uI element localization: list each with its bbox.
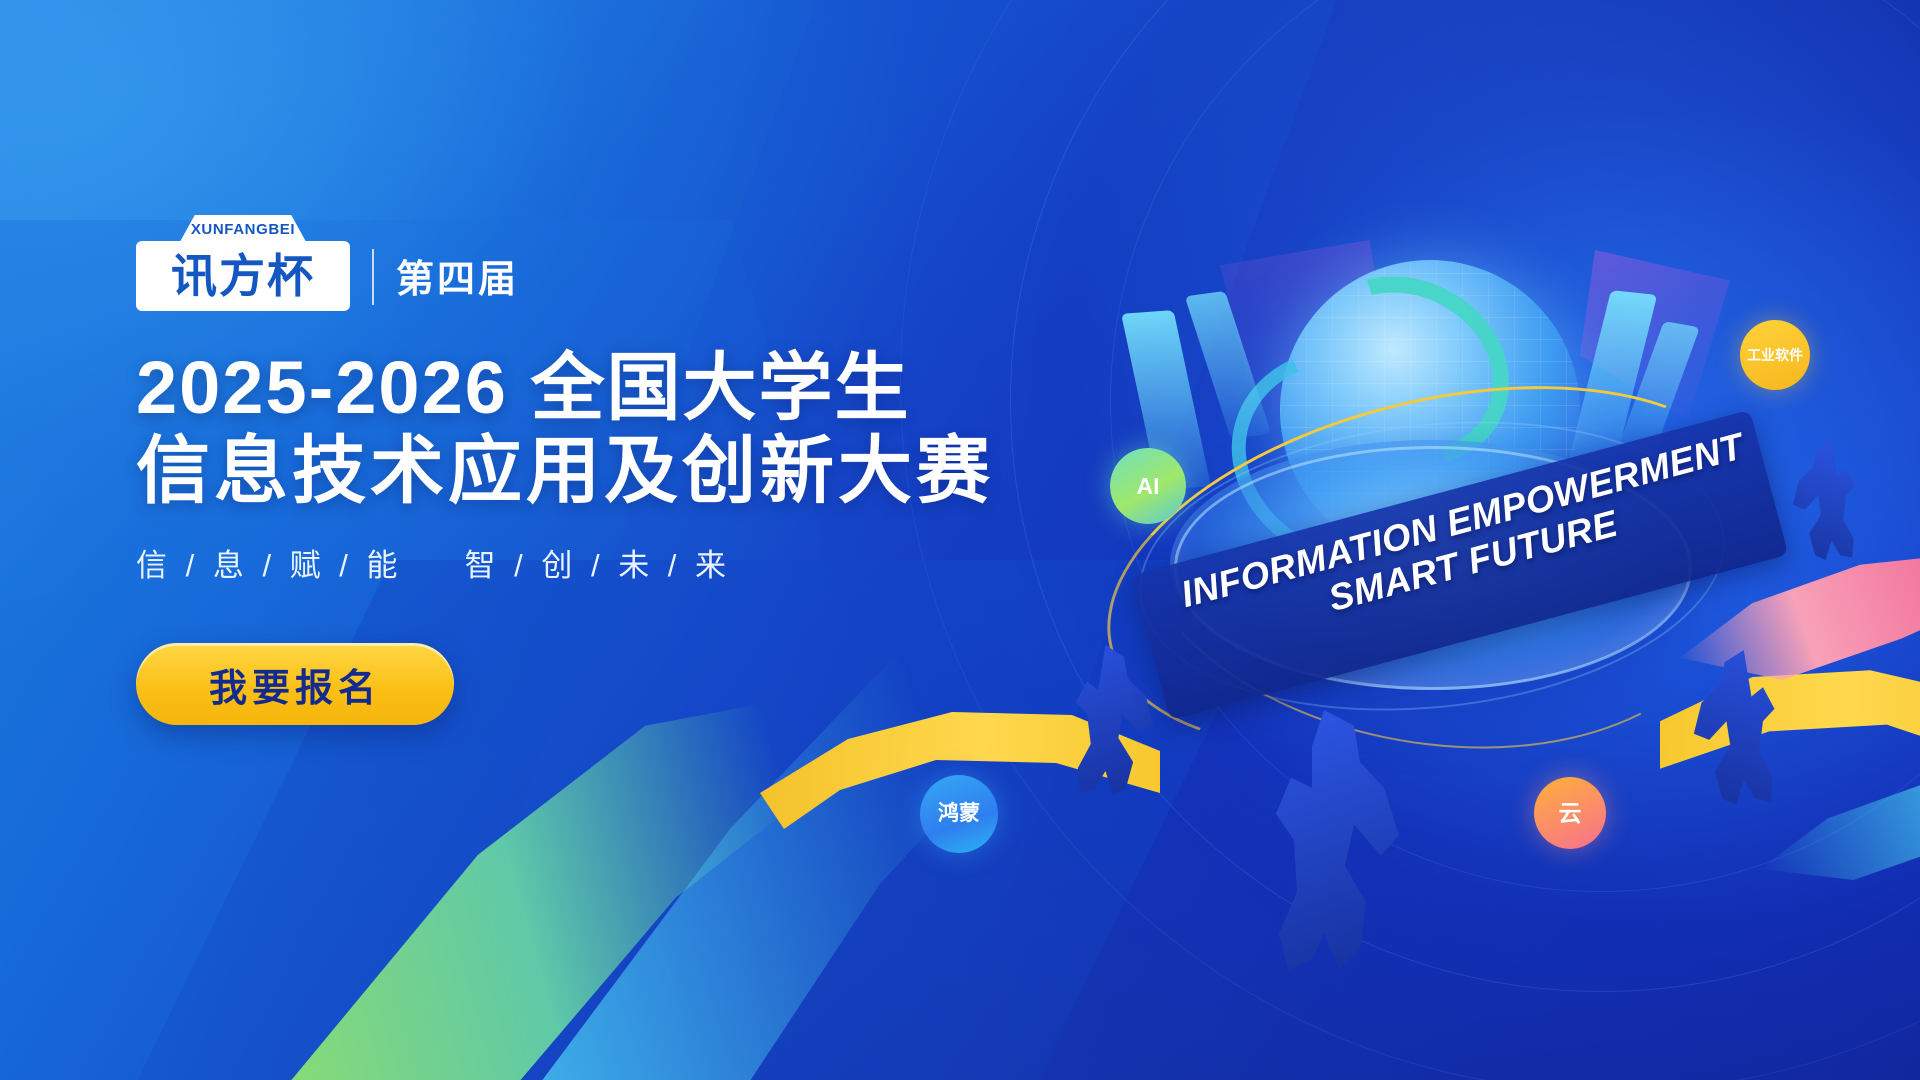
brand-row: XUNFANGBEI 讯方杯 第四届 <box>136 215 1136 311</box>
hero-slogan: 信 / 息 / 赋 / 能 智 / 创 / 未 / 来 <box>136 540 1136 585</box>
slogan-right: 智 / 创 / 未 / 来 <box>465 540 732 585</box>
hero-title-line2: 信息技术应用及创新大赛 <box>136 428 1136 514</box>
brand-divider <box>372 249 374 305</box>
tag-cloud[interactable]: 云 <box>1534 777 1606 849</box>
bg-swoosh-cyan-right <box>1760 740 1920 880</box>
signup-button[interactable]: 我要报名 <box>136 643 454 725</box>
tag-industrial-software[interactable]: 工业软件 <box>1740 320 1810 390</box>
banner-stage: INFORMATION EMPOWERMENT SMART FUTURE AI … <box>0 0 1920 1080</box>
tag-harmony[interactable]: 鸿蒙 <box>920 775 998 853</box>
brand-logo[interactable]: XUNFANGBEI 讯方杯 <box>136 215 350 311</box>
logo-name: 讯方杯 <box>136 243 350 309</box>
edition-label: 第四届 <box>396 261 519 299</box>
hero-title-line1: 2025-2026 全国大学生 <box>136 347 1136 428</box>
slogan-left: 信 / 息 / 赋 / 能 <box>136 540 403 585</box>
logo-pinyin: XUNFANGBEI <box>176 221 310 238</box>
runner-silhouette-right <box>1690 650 1786 805</box>
hero-content: XUNFANGBEI 讯方杯 第四届 2025-2026 全国大学生 信息技术应… <box>136 215 1136 725</box>
bg-ribbon-green <box>250 700 1010 1080</box>
